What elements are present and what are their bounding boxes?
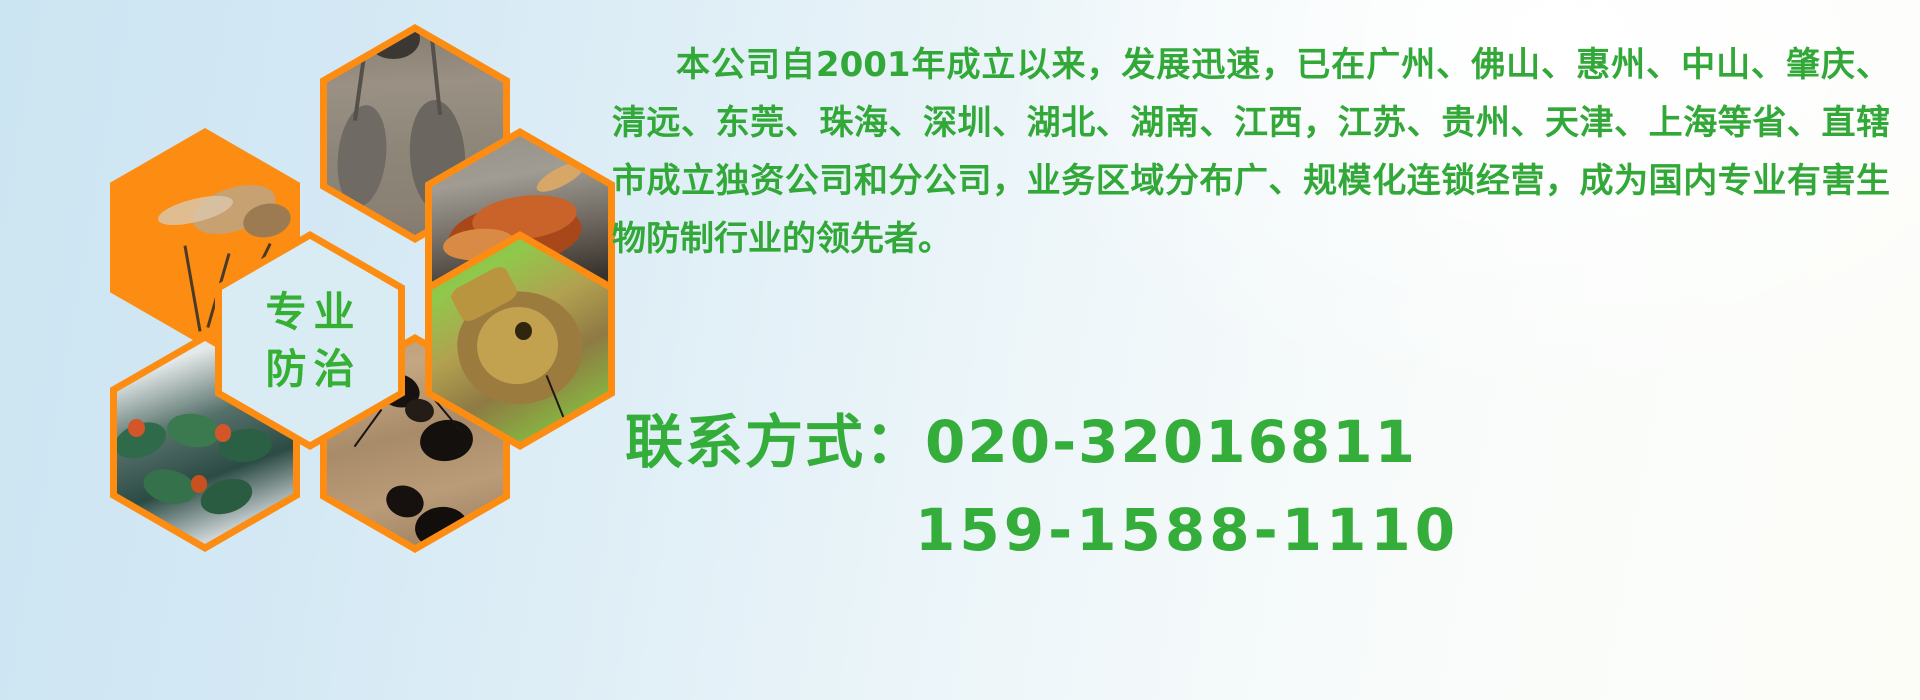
hex-inner: 专业 防治 [222, 239, 398, 442]
honeycomb-graphic: 专业 防治 [0, 0, 620, 700]
honeycomb-center-label: 专业 防治 [222, 239, 398, 442]
contact-line-landline: 联系方式：020-32016811 [625, 398, 1895, 486]
center-label-line-1: 专业 [259, 284, 362, 341]
contact-line-mobile: 159-1588-1110 [625, 486, 1895, 574]
hex-inner [432, 239, 608, 442]
intro-text: 本公司自2001年成立以来，发展迅速，已在广州、佛山、惠州、中山、肇庆、清远、东… [612, 36, 1890, 268]
banner-root: 专业 防治 本公司自2001年成立以来，发展迅速，已在广州、佛山、惠州、中山、肇… [0, 0, 1920, 700]
company-intro-paragraph: 本公司自2001年成立以来，发展迅速，已在广州、佛山、惠州、中山、肇庆、清远、东… [612, 36, 1890, 268]
contact-block: 联系方式：020-32016811 159-1588-1110 [625, 398, 1895, 574]
center-label-line-2: 防治 [259, 341, 362, 398]
stinkbug-photo [432, 239, 608, 442]
